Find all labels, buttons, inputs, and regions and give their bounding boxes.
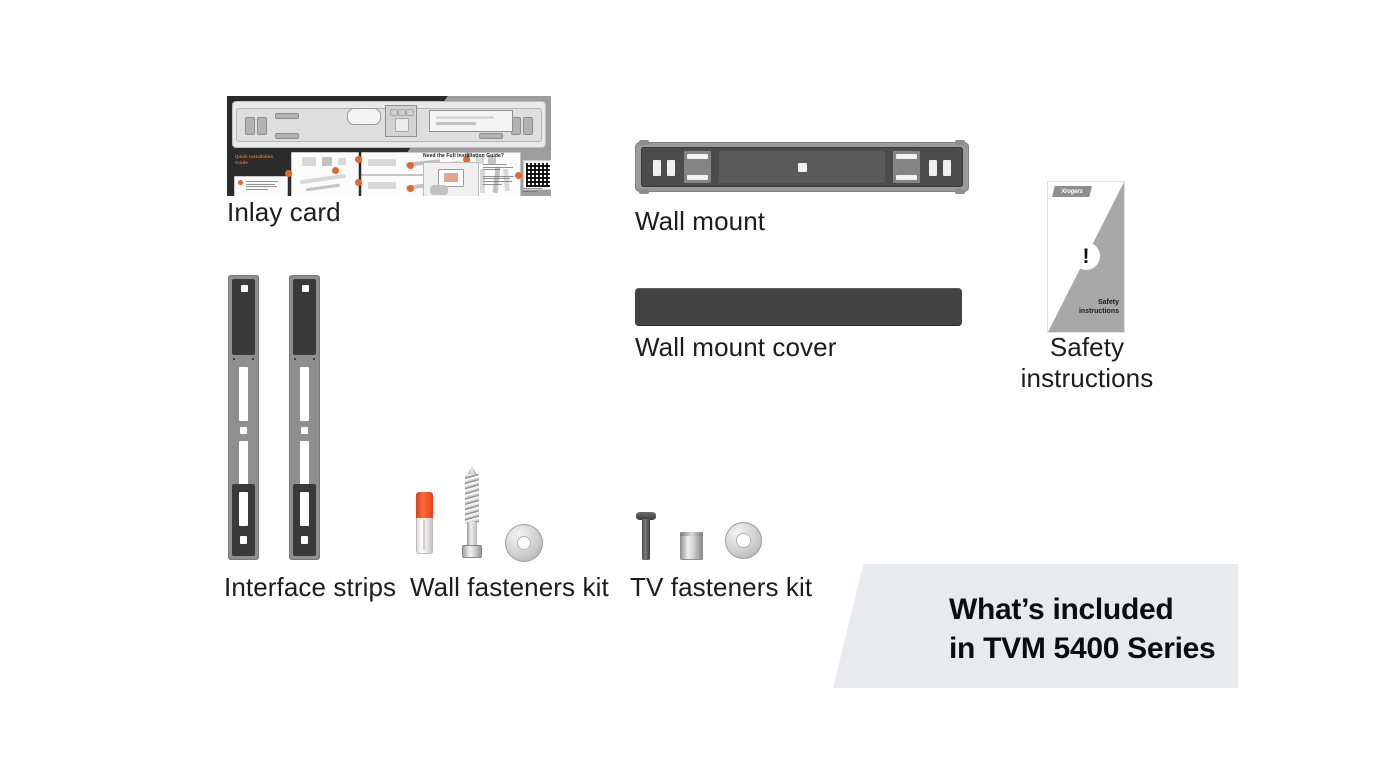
wall-mount-slot xyxy=(667,160,675,176)
wall-mount-cover-body xyxy=(635,288,962,326)
wall-mount-bracket-left xyxy=(684,151,711,183)
instruction-panel-1 xyxy=(291,152,359,196)
strip-top-segment xyxy=(293,279,316,355)
inlay-card-guide-section: Quick Installation Guide xyxy=(227,148,551,196)
wall-mount-body xyxy=(641,147,963,187)
inlay-card-illustration: Quick Installation Guide xyxy=(227,96,551,196)
brand-logo-icon: Xrogers xyxy=(1052,186,1092,197)
wall-mount-bracket-right xyxy=(893,151,920,183)
diagram-canvas: Quick Installation Guide xyxy=(0,0,1400,760)
wall-mount-frame xyxy=(635,142,969,192)
safety-instructions-illustration: Xrogers ! Safety instructions xyxy=(1048,182,1124,332)
quick-install-guide-heading: Quick Installation Guide xyxy=(235,154,281,167)
label-inlay-card: Inlay card xyxy=(227,197,341,228)
wall-mount-tab xyxy=(955,140,965,145)
tv-spacer-part xyxy=(680,532,703,560)
wall-washer-part xyxy=(505,524,543,562)
step-marker xyxy=(407,185,414,192)
wall-fasteners-kit-illustration xyxy=(408,462,548,562)
strip-top-segment xyxy=(232,279,255,355)
label-wall-fasteners-kit: Wall fasteners kit xyxy=(410,572,609,603)
inlay-mount-slot xyxy=(257,117,267,135)
label-wall-mount: Wall mount xyxy=(635,206,765,237)
lag-screw-part xyxy=(460,466,484,558)
qr-code xyxy=(523,160,551,190)
inlay-mount-tab xyxy=(479,133,503,139)
wall-mount-slot xyxy=(929,160,937,176)
wall-mount-center-body xyxy=(719,151,885,183)
inlay-hand-panel xyxy=(429,110,513,132)
banner-title: What’s included in TVM 5400 Series xyxy=(949,590,1215,668)
inlay-callout-bubble xyxy=(347,108,381,125)
interface-strip-right xyxy=(289,275,320,560)
label-interface-strips: Interface strips xyxy=(224,572,396,603)
label-tv-fasteners-kit: TV fasteners kit xyxy=(630,572,812,603)
interface-strip-left xyxy=(228,275,259,560)
wall-mount-center-marker xyxy=(798,163,807,172)
step-marker xyxy=(355,179,362,186)
label-wall-mount-cover: Wall mount cover xyxy=(635,332,836,363)
tv-bolt-part xyxy=(636,512,656,560)
warning-exclamation-icon: ! xyxy=(1072,242,1100,270)
safety-instructions-sheet: Xrogers ! Safety instructions xyxy=(1048,182,1124,332)
step-marker xyxy=(407,162,414,169)
wall-mount-tab xyxy=(639,189,649,194)
strip-bottom-segment xyxy=(232,484,255,556)
wall-mount-illustration xyxy=(635,142,969,192)
wall-mount-slot xyxy=(653,160,661,176)
included-banner: What’s included in TVM 5400 Series xyxy=(833,564,1238,688)
strip-bottom-segment xyxy=(293,484,316,556)
wall-mount-tab xyxy=(639,140,649,145)
tv-fasteners-kit-illustration xyxy=(630,512,762,562)
wall-mount-cover-illustration xyxy=(635,288,962,326)
step-marker xyxy=(285,170,292,177)
wall-mount-slot xyxy=(943,160,951,176)
label-safety-instructions: Safety instructions xyxy=(1003,332,1171,393)
inlay-mount-tab xyxy=(275,133,299,139)
inlay-card-top-illustration xyxy=(232,101,546,148)
safety-sheet-caption: Safety instructions xyxy=(1079,298,1119,316)
inlay-mount-slot xyxy=(523,117,533,135)
wall-plug-part xyxy=(416,492,433,554)
inlay-mount-tab xyxy=(275,113,299,119)
full-guide-heading: Need the Full Installation Guide? xyxy=(423,153,504,159)
full-guide-image xyxy=(423,162,479,196)
inlay-card-body: Quick Installation Guide xyxy=(227,96,551,196)
inlay-mount-slot xyxy=(245,117,255,135)
wall-mount-tab xyxy=(955,189,965,194)
quick-guide-note-card xyxy=(234,176,288,196)
inlay-detail-panel xyxy=(385,105,417,137)
step-marker xyxy=(355,156,362,163)
interface-strips-illustration xyxy=(228,275,320,560)
tv-washer-part xyxy=(725,522,762,559)
